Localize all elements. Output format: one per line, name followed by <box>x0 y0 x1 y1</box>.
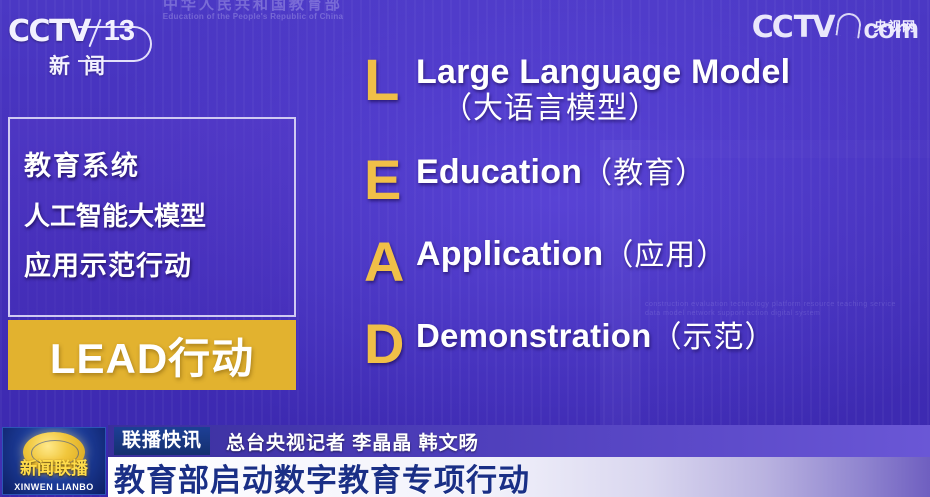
lead-row-d: D Demonstration（示范） <box>364 316 930 372</box>
lead-chinese-a: （应用） <box>603 239 727 272</box>
reporter-credit: 总台央视记者 李晶晶 韩文旸 <box>226 428 479 455</box>
web-logo: CC TV com 央视网 <box>752 10 918 45</box>
lower-third-credit-row: 联播快讯 总台央视记者 李晶晶 韩文旸 <box>108 425 930 457</box>
program-logo-en: XINWEN LIANBO <box>3 482 105 492</box>
info-panel-line-2: 人工智能大模型 <box>24 191 280 241</box>
lead-english-d: Demonstration（示范） <box>416 316 930 358</box>
lead-english-a: Application（应用） <box>416 234 930 276</box>
lead-chinese-e: （教育） <box>582 157 706 190</box>
lead-action-banner-label: LEAD行动 <box>50 325 254 386</box>
lead-letter-e: E <box>364 152 416 208</box>
lead-body-d: Demonstration（示范） <box>416 316 930 358</box>
web-logo-arc-icon <box>835 11 861 45</box>
lead-english-e: Education（教育） <box>416 152 930 194</box>
lead-row-e: E Education（教育） <box>364 152 930 208</box>
channel-oval-icon <box>78 26 152 62</box>
headline-bar: 教育部启动数字教育专项行动 <box>108 457 930 497</box>
lead-chinese-d: （示范） <box>651 321 775 354</box>
ministry-header-cn: 中华人民共和国教育部 <box>88 0 418 12</box>
lead-body-l: Large Language Model （大语言模型） <box>416 52 930 128</box>
lower-third: 新闻联播 XINWEN LIANBO 联播快讯 总台央视记者 李晶晶 韩文旸 教… <box>0 425 930 497</box>
channel-logo: CCTV 13 新闻 <box>8 14 146 80</box>
web-logo-tv: TV <box>794 10 834 45</box>
info-panel-line-3: 应用示范行动 <box>24 241 280 291</box>
lead-row-l: L Large Language Model （大语言模型） <box>364 52 930 128</box>
program-logo-cn: 新闻联播 <box>3 454 105 479</box>
lead-chinese-l: （大语言模型） <box>416 90 930 128</box>
info-panel-line-1: 教育系统 <box>24 141 280 191</box>
news-flash-badge: 联播快讯 <box>114 427 210 455</box>
broadcast-screenshot: construction evaluation technology platf… <box>0 0 930 497</box>
lead-row-a: A Application（应用） <box>364 234 930 290</box>
lead-letter-d: D <box>364 316 416 372</box>
info-panel-lines: 教育系统 人工智能大模型 应用示范行动 <box>10 141 294 291</box>
info-panel: 教育系统 人工智能大模型 应用示范行动 <box>8 117 296 317</box>
headline-text: 教育部启动数字教育专项行动 <box>114 455 530 497</box>
program-logo: 新闻联播 XINWEN LIANBO <box>2 427 106 495</box>
web-logo-cn: 央视网 <box>874 16 916 35</box>
web-logo-cc: CC <box>752 10 792 45</box>
lead-letter-a: A <box>364 234 416 290</box>
lead-body-e: Education（教育） <box>416 152 930 194</box>
lead-body-a: Application（应用） <box>416 234 930 276</box>
lead-acronym-list: L Large Language Model （大语言模型） E Educati… <box>364 52 930 372</box>
lead-letter-l: L <box>364 52 416 110</box>
lead-action-banner: LEAD行动 <box>8 320 296 390</box>
lead-english-l: Large Language Model <box>416 52 930 92</box>
